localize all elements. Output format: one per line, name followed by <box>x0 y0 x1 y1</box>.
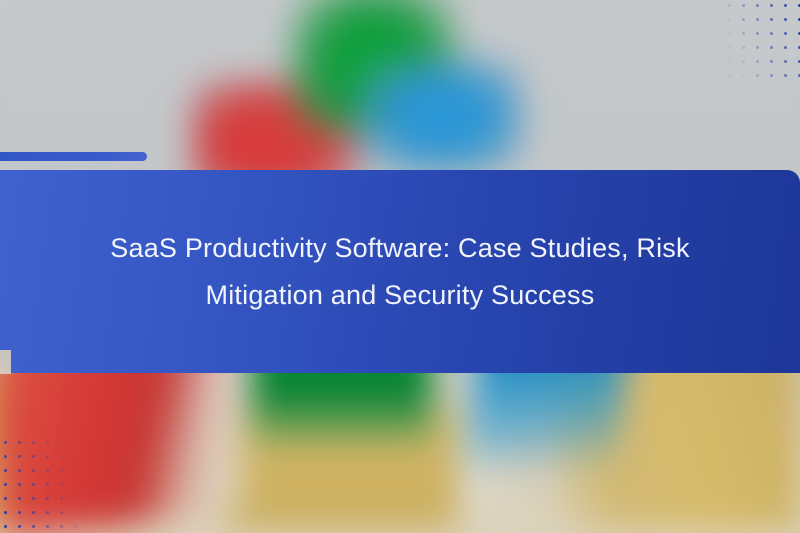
page-title-line-1: SaaS Productivity Software: Case Studies… <box>110 233 689 263</box>
panel-bottom-left-notch <box>0 350 11 374</box>
blue-pencil-tip <box>356 56 522 176</box>
page-title: SaaS Productivity Software: Case Studies… <box>50 225 750 319</box>
page-title-line-2: Mitigation and Security Success <box>206 280 595 310</box>
accent-bar <box>0 152 147 161</box>
page-canvas: SaaS Productivity Software: Case Studies… <box>0 0 800 533</box>
title-panel: SaaS Productivity Software: Case Studies… <box>0 170 800 373</box>
